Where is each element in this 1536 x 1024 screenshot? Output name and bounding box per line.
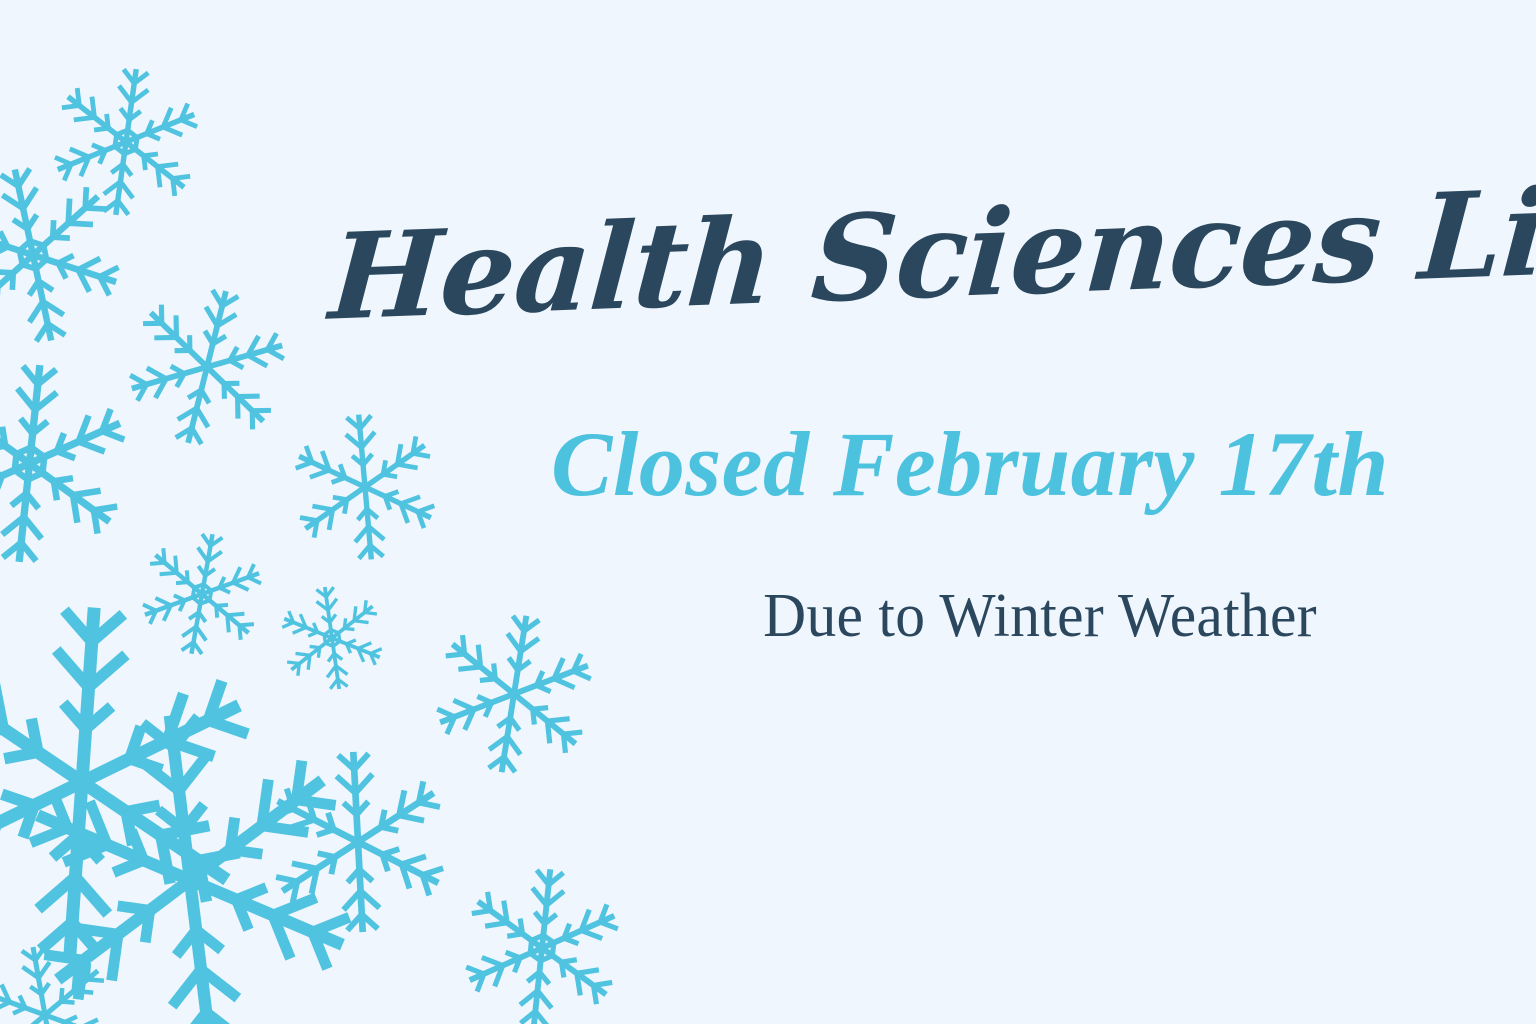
page-title: Health Sciences Library	[326, 177, 1453, 336]
poster-canvas: Health Sciences Library Closed February …	[0, 0, 1536, 1024]
snowflake-icon	[255, 739, 461, 945]
closure-reason-text: Due to Winter Weather	[646, 585, 1433, 647]
snowflake-icon	[104, 264, 310, 470]
snowflake-icon	[0, 142, 146, 367]
closure-date-heading: Closed February 17th	[490, 418, 1450, 510]
snowflake-icon	[126, 518, 279, 671]
snowflake-icon	[0, 345, 148, 581]
snowflake-icon	[0, 579, 285, 985]
snowflake-icon	[0, 928, 132, 1024]
snowflake-icon	[36, 52, 217, 233]
announcement-text-block: Health Sciences Library Closed February …	[330, 150, 1480, 740]
snowflake-icon	[447, 853, 636, 1024]
